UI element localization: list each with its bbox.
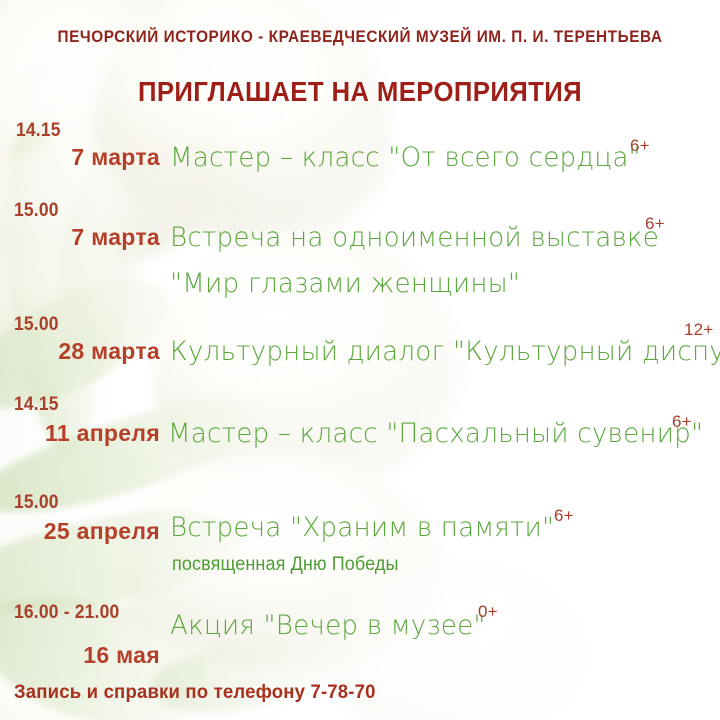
event-title-line2: "Мир глазами женщины": [170, 268, 520, 299]
age-rating-badge: 6+: [630, 136, 650, 156]
age-rating-badge: 6+: [645, 214, 665, 234]
age-rating-badge: 12+: [684, 320, 713, 340]
museum-name: ПЕЧОРСКИЙ ИСТОРИКО - КРАЕВЕДЧЕСКИЙ МУЗЕЙ…: [25, 28, 695, 47]
age-rating-badge: 6+: [672, 412, 692, 432]
event-date: 25 апреля: [0, 518, 160, 545]
event-subtitle: посвященная Дню Победы: [172, 554, 399, 576]
event-time: 14.15: [14, 394, 59, 416]
event-date: 7 марта: [0, 224, 160, 251]
event-title: Мастер – класс "От всего сердца": [170, 142, 641, 173]
event-poster: ПЕЧОРСКИЙ ИСТОРИКО - КРАЕВЕДЧЕСКИЙ МУЗЕЙ…: [0, 0, 720, 720]
event-title: Культурный диалог "Культурный диспут": [170, 336, 720, 367]
event-time: 15.00: [14, 200, 59, 222]
event-time: 16.00 - 21.00: [14, 602, 119, 624]
age-rating-badge: 0+: [478, 602, 498, 622]
invitation-headline: ПРИГЛАШАЕТ НА МЕРОПРИЯТИЯ: [29, 76, 691, 108]
event-time: 15.00: [14, 492, 59, 514]
event-title: Встреча на одноименной выставке: [170, 222, 659, 253]
event-title: Мастер – класс "Пасхальный сувенир": [168, 418, 703, 449]
event-date: 11 апреля: [0, 420, 160, 447]
poster-content: ПЕЧОРСКИЙ ИСТОРИКО - КРАЕВЕДЧЕСКИЙ МУЗЕЙ…: [0, 0, 720, 720]
event-time: 15.00: [14, 314, 59, 336]
event-date: 28 марта: [0, 338, 160, 365]
event-title: Встреча "Храним в памяти": [170, 512, 554, 543]
contact-info: Запись и справки по телефону 7-78-70: [14, 681, 376, 704]
event-date: 16 мая: [0, 642, 160, 669]
event-time: 14.15: [16, 120, 61, 142]
age-rating-badge: 6+: [554, 506, 574, 526]
event-title: Акция "Вечер в музее": [170, 610, 486, 641]
event-date: 7 марта: [0, 144, 160, 171]
